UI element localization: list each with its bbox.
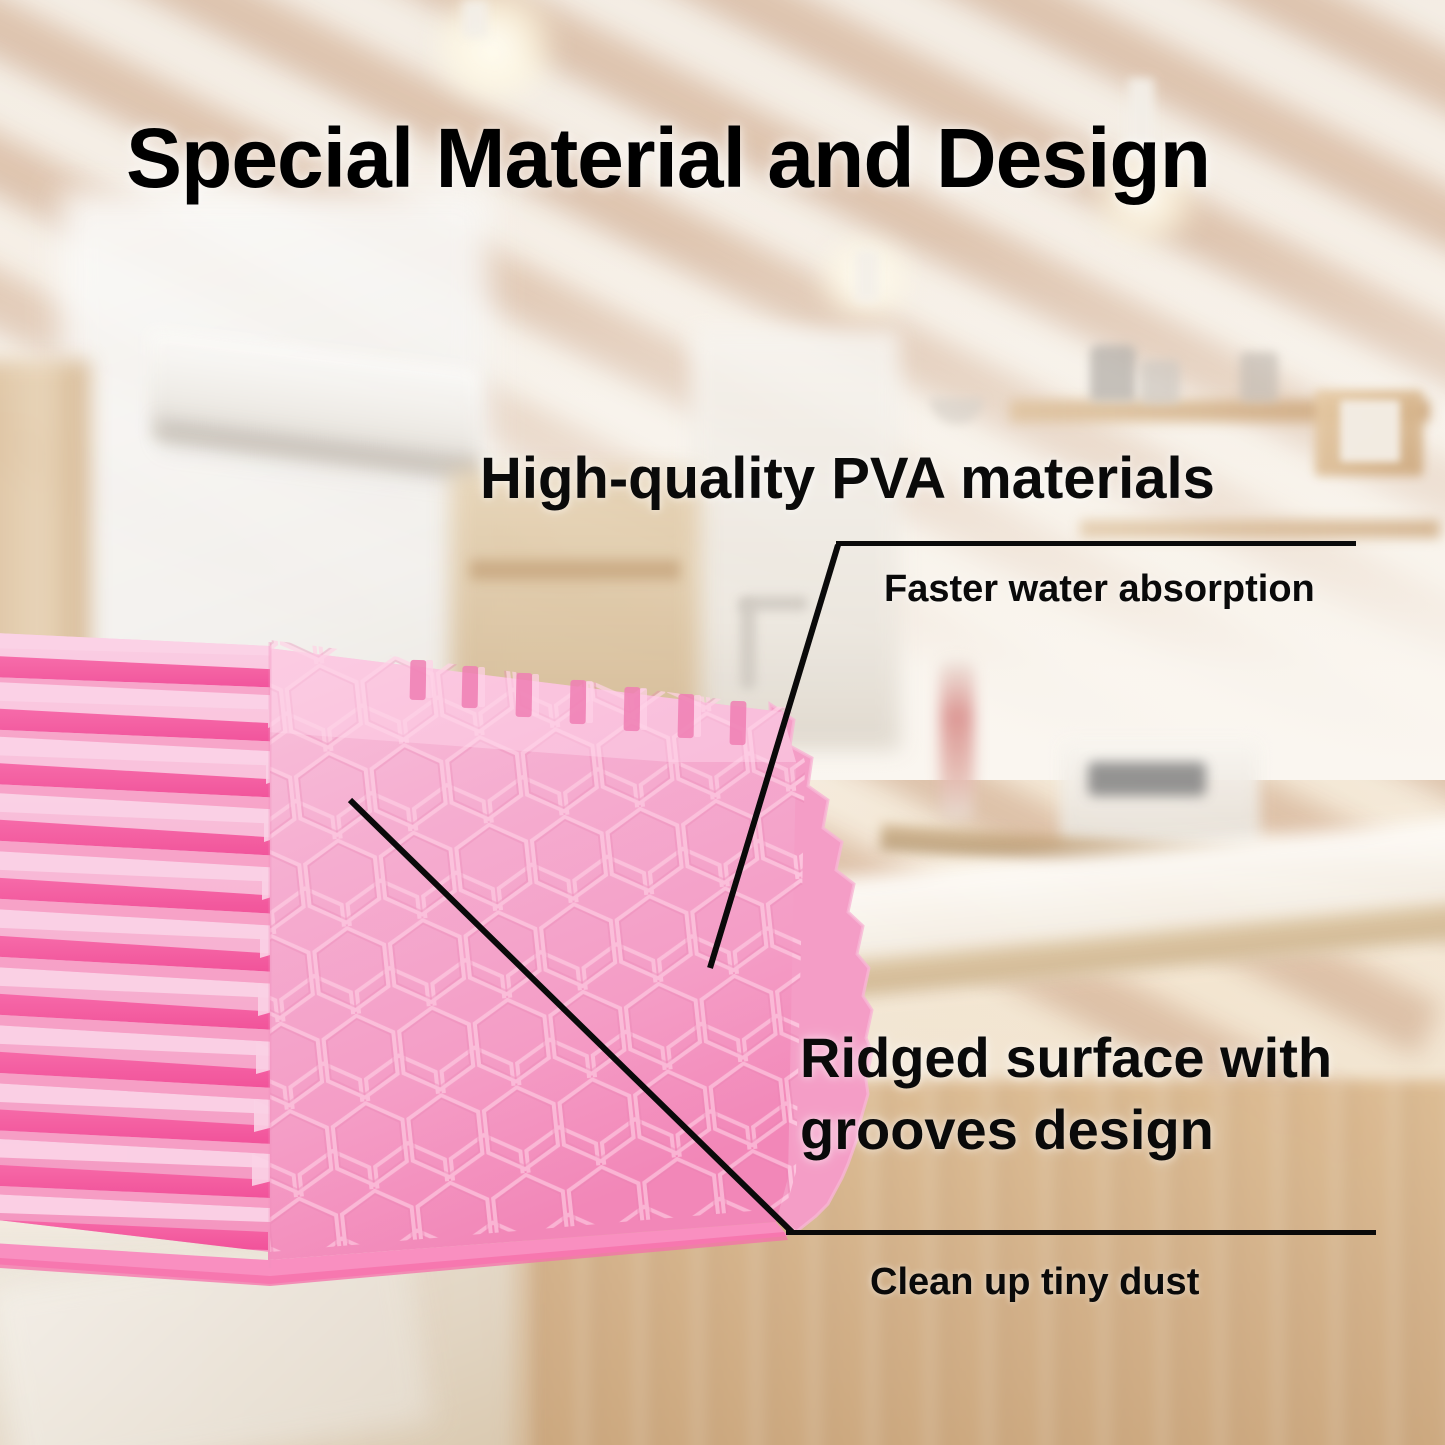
callout-subtext-material: Faster water absorption: [884, 568, 1315, 611]
leader-line-material: [710, 545, 838, 968]
leader-line-grooves: [350, 800, 792, 1232]
callout-heading-surface: Ridged surface with grooves design: [800, 1022, 1332, 1165]
callout-rule-surface: [786, 1230, 1376, 1235]
callout-leader-lines: [0, 0, 1445, 1445]
callout-heading-surface-line2: grooves design: [800, 1094, 1332, 1166]
callout-heading-material: High-quality PVA materials: [480, 445, 1215, 512]
callout-subtext-surface: Clean up tiny dust: [870, 1261, 1199, 1304]
callout-rule-material: [836, 541, 1356, 546]
page-title: Special Material and Design: [126, 110, 1210, 207]
callout-heading-surface-line1: Ridged surface with: [800, 1022, 1332, 1094]
infographic-canvas: Special Material and Design High-quality…: [0, 0, 1445, 1445]
